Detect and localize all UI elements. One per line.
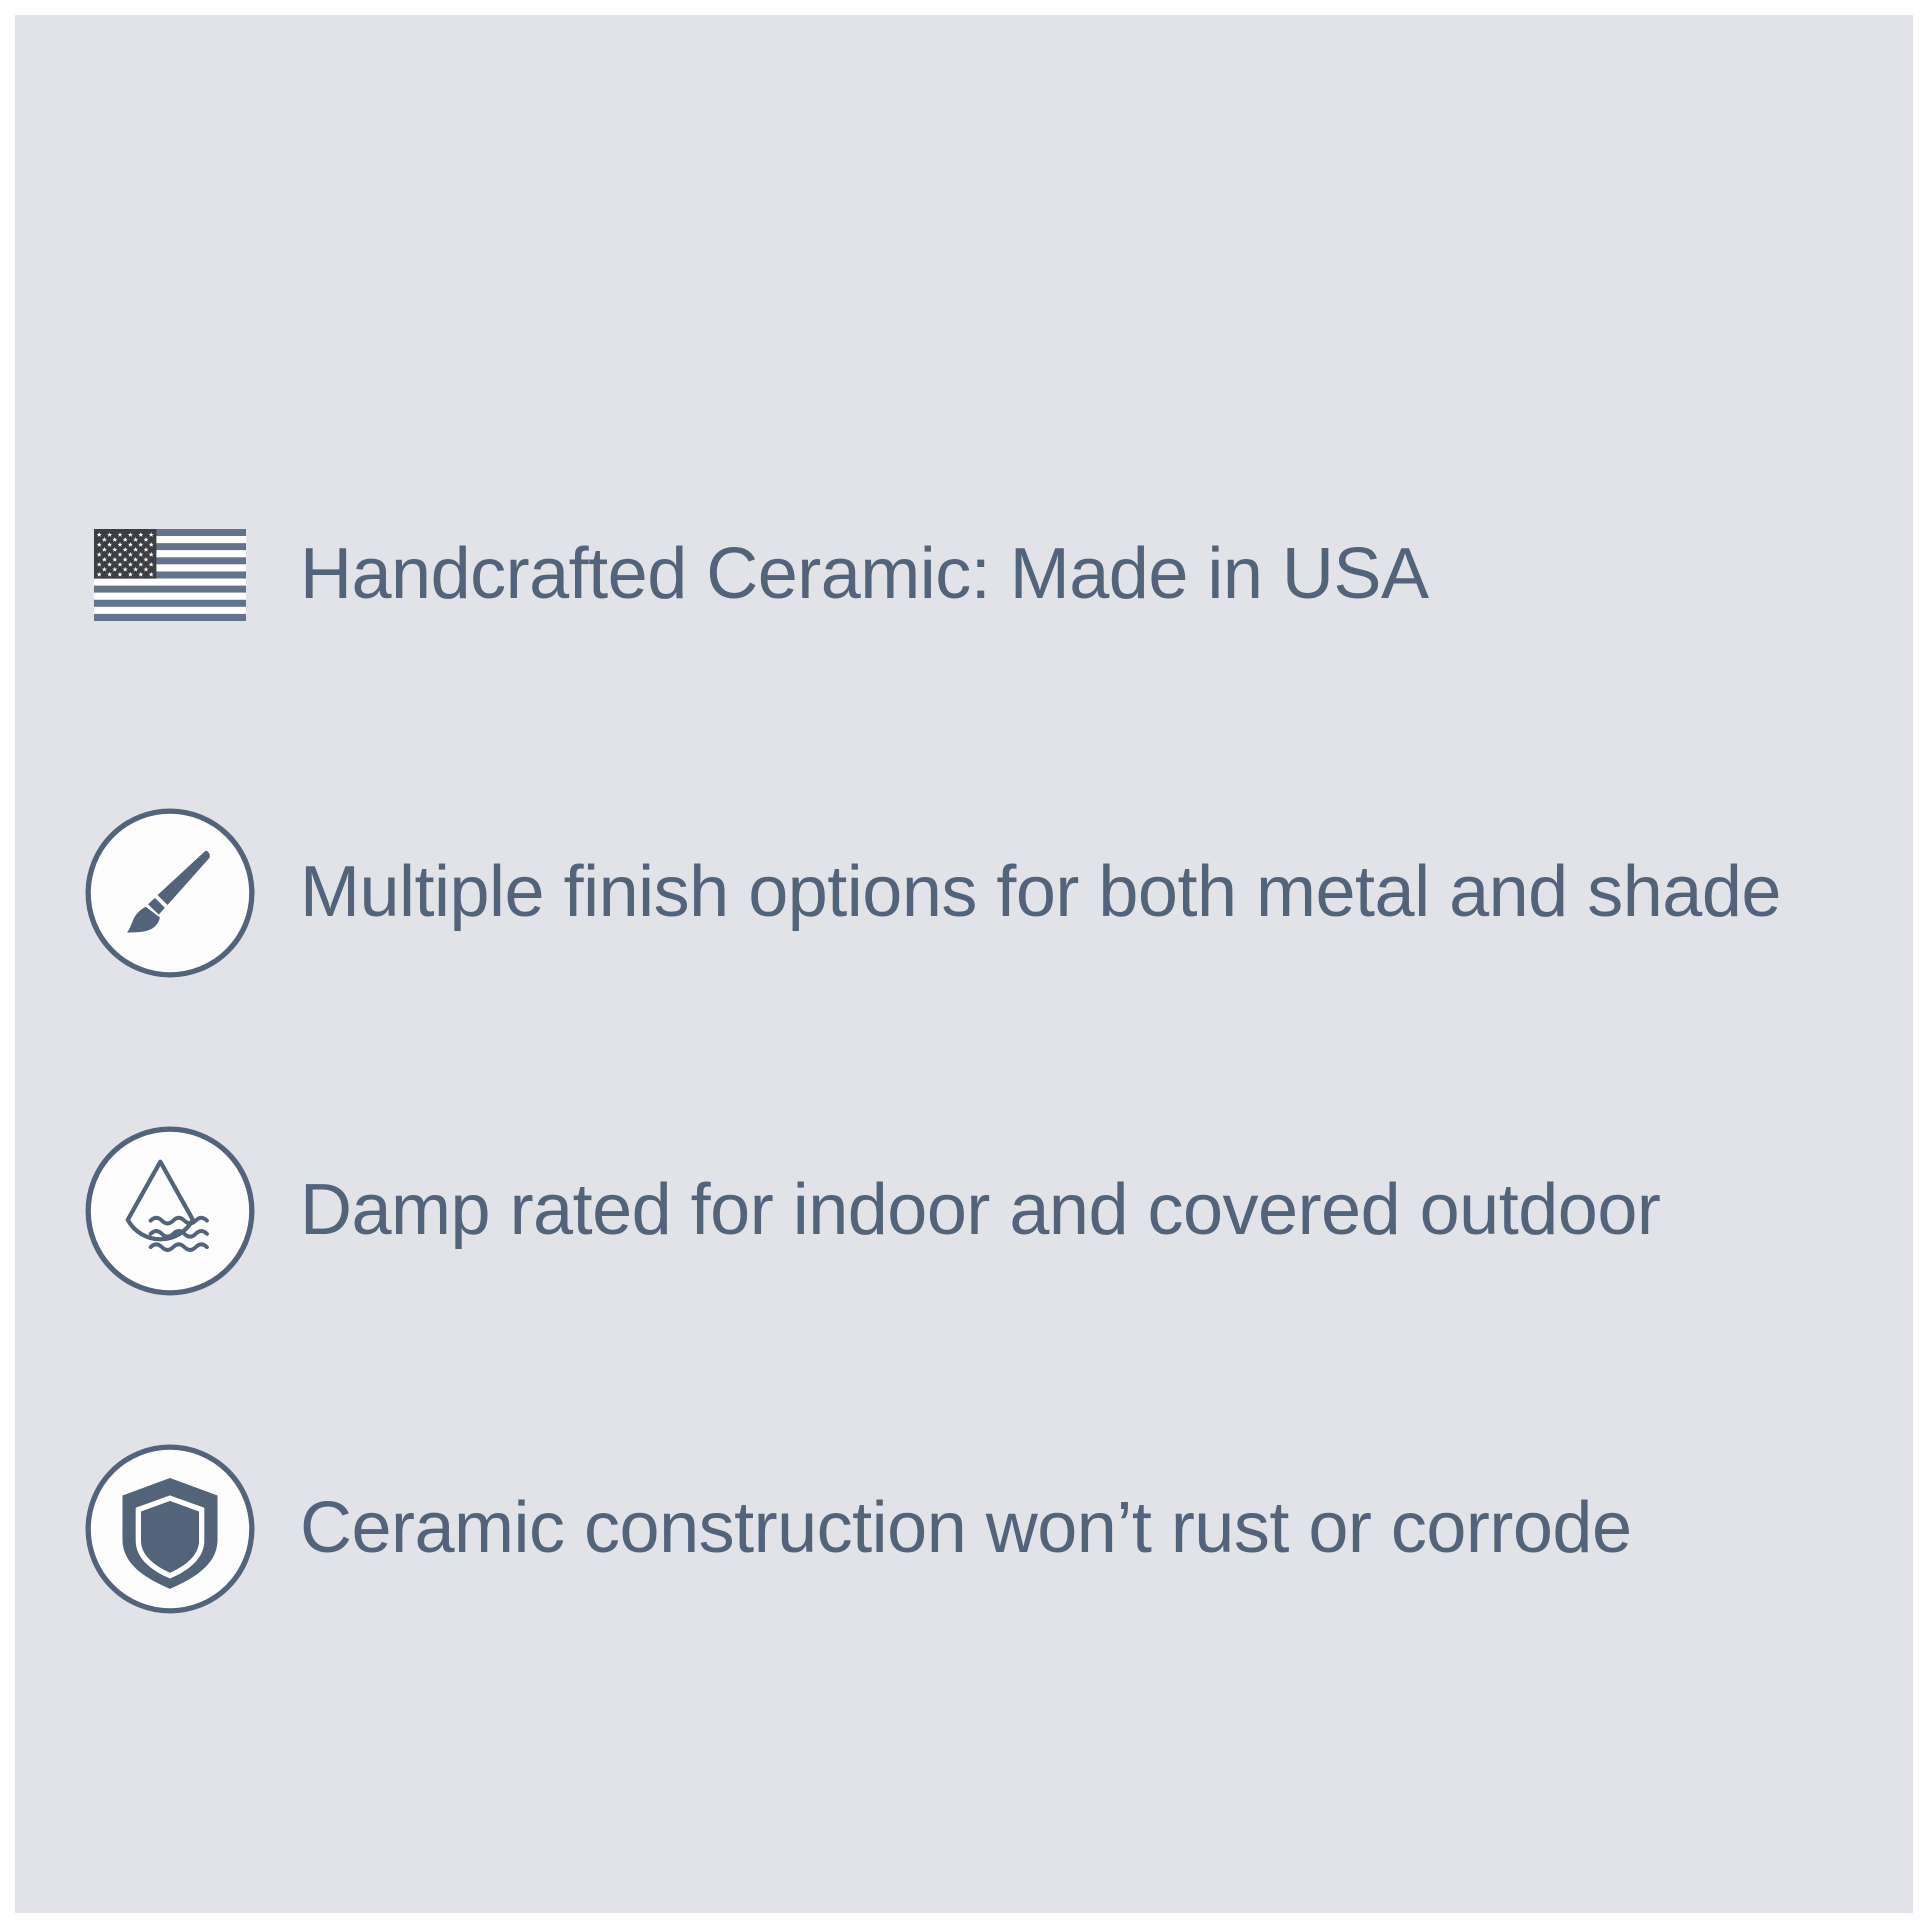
feature-list: Handcrafted Ceramic: Made in USA Multipl… bbox=[70, 475, 1870, 1629]
feature-label: Damp rated for indoor and covered outdoo… bbox=[300, 1173, 1660, 1249]
shield-icon bbox=[70, 1429, 270, 1629]
feature-label: Ceramic construction won’t rust or corro… bbox=[300, 1491, 1632, 1567]
feature-panel: Handcrafted Ceramic: Made in USA Multipl… bbox=[15, 15, 1913, 1913]
feature-row: Damp rated for indoor and covered outdoo… bbox=[70, 1111, 1870, 1311]
water-drop-icon bbox=[70, 1111, 270, 1311]
feature-row: Multiple finish options for both metal a… bbox=[70, 793, 1870, 993]
paintbrush-icon bbox=[70, 793, 270, 993]
feature-label: Handcrafted Ceramic: Made in USA bbox=[300, 537, 1428, 613]
usa-flag-icon bbox=[70, 475, 270, 675]
feature-row: Handcrafted Ceramic: Made in USA bbox=[70, 475, 1870, 675]
feature-label: Multiple finish options for both metal a… bbox=[300, 855, 1781, 931]
feature-row: Ceramic construction won’t rust or corro… bbox=[70, 1429, 1870, 1629]
